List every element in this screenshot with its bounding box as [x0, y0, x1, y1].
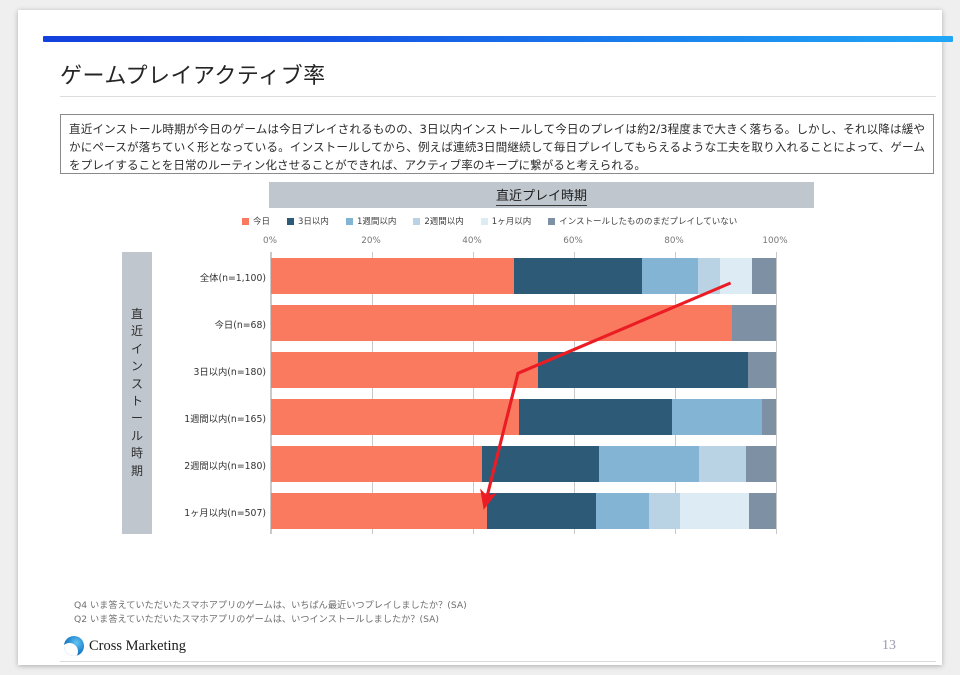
summary-text: 直近インストール時期が今日のゲームは今日プレイされるものの、3日以内インストール… — [69, 121, 925, 175]
bar-segment — [746, 446, 776, 482]
category-label: 3日以内(n=180) — [154, 364, 266, 378]
bar-segment — [271, 305, 732, 341]
bar-row — [271, 399, 776, 435]
page-title: ゲームプレイアクティブ率 — [60, 58, 760, 90]
legend-label-3: 2週間以内 — [424, 215, 463, 227]
bar-segment — [514, 258, 642, 294]
bar-row — [271, 352, 776, 388]
bar-segment — [698, 258, 721, 294]
footer-divider — [60, 661, 936, 662]
stacked-bar-chart: 直近プレイ時期 今日3日以内1週間以内2週間以内1ヶ月以内インストールしたものの… — [122, 182, 942, 572]
legend-swatch-3 — [413, 218, 420, 225]
bar-segment — [752, 258, 776, 294]
cross-marketing-swoosh-icon — [64, 636, 84, 656]
bar-segment — [271, 446, 482, 482]
page-number: 13 — [882, 638, 896, 654]
footnote-q4: Q4 いま答えていただいたスマホアプリのゲームは、いちばん最近いつプレイしました… — [74, 599, 674, 613]
bar-segment — [732, 305, 776, 341]
bar-segment — [649, 493, 680, 529]
bar-segment — [271, 352, 538, 388]
bar-segment — [271, 399, 519, 435]
category-label: 2週間以内(n=180) — [154, 458, 266, 472]
legend-title-banner: 直近プレイ時期 — [269, 182, 814, 208]
xtick-40: 40% — [462, 236, 482, 246]
legend-label-1: 3日以内 — [298, 215, 329, 227]
chart-legend: 今日3日以内1週間以内2週間以内1ヶ月以内インストールしたもののまだプレイしてい… — [242, 212, 942, 230]
top-accent-bar — [43, 36, 953, 42]
legend-swatch-4 — [481, 218, 488, 225]
legend-swatch-5 — [548, 218, 555, 225]
bar-series-container — [271, 252, 776, 534]
plot-wrapper: 直近インストール時期 全体(n=1,100)今日(n=68)3日以内(n=180… — [122, 252, 942, 534]
category-label: 1週間以内(n=165) — [154, 411, 266, 425]
legend-label-5: インストールしたもののまだプレイしていない — [559, 215, 737, 227]
slide-paper: ゲームプレイアクティブ率 直近インストール時期が今日のゲームは今日プレイされるも… — [18, 10, 942, 665]
footnote-q2: Q2 いま答えていただいたスマホアプリのゲームは、いつインストールしましたか？(… — [74, 613, 674, 627]
bar-segment — [271, 258, 514, 294]
bar-segment — [720, 258, 751, 294]
legend-swatch-1 — [287, 218, 294, 225]
legend-item-0: 今日 — [242, 215, 270, 227]
y-axis-category-labels: 全体(n=1,100)今日(n=68)3日以内(n=180)1週間以内(n=16… — [156, 252, 268, 534]
bar-segment — [672, 399, 762, 435]
legend-item-2: 1週間以内 — [346, 215, 396, 227]
gridline-100 — [776, 252, 777, 534]
title-divider — [60, 96, 936, 97]
legend-item-4: 1ヶ月以内 — [481, 215, 531, 227]
bar-segment — [538, 352, 748, 388]
legend-swatch-2 — [346, 218, 353, 225]
footnotes: Q4 いま答えていただいたスマホアプリのゲームは、いちばん最近いつプレイしました… — [74, 599, 674, 628]
legend-label-2: 1週間以内 — [357, 215, 396, 227]
xtick-80: 80% — [664, 236, 684, 246]
legend-label-0: 今日 — [253, 215, 270, 227]
bar-segment — [749, 493, 776, 529]
bar-segment — [271, 493, 487, 529]
brand-name: Cross Marketing — [89, 638, 186, 655]
legend-title-text: 直近プレイ時期 — [496, 185, 587, 206]
bar-segment — [762, 399, 776, 435]
bar-row — [271, 258, 776, 294]
legend-label-4: 1ヶ月以内 — [492, 215, 531, 227]
bar-segment — [642, 258, 698, 294]
xtick-20: 20% — [361, 236, 381, 246]
bar-row — [271, 305, 776, 341]
plot-area — [270, 252, 776, 534]
bar-segment — [519, 399, 672, 435]
xtick-60: 60% — [563, 236, 583, 246]
slide-canvas: ゲームプレイアクティブ率 直近インストール時期が今日のゲームは今日プレイされるも… — [0, 0, 960, 675]
xtick-100: 100% — [762, 236, 787, 246]
legend-item-3: 2週間以内 — [413, 215, 463, 227]
bar-segment — [680, 493, 749, 529]
bar-segment — [487, 493, 596, 529]
summary-textbox: 直近インストール時期が今日のゲームは今日プレイされるものの、3日以内インストール… — [60, 114, 934, 174]
brand-logo: Cross Marketing — [64, 636, 186, 656]
category-label: 1ヶ月以内(n=507) — [154, 505, 266, 519]
bar-segment — [599, 446, 699, 482]
category-label: 今日(n=68) — [154, 317, 266, 331]
bar-row — [271, 446, 776, 482]
bar-segment — [699, 446, 745, 482]
y-axis-title: 直近インストール時期 — [122, 252, 152, 534]
legend-swatch-0 — [242, 218, 249, 225]
bar-segment — [596, 493, 650, 529]
bar-segment — [748, 352, 776, 388]
x-axis-ticklabels: 0%20%40%60%80%100% — [270, 236, 775, 252]
y-axis-title-text: 直近インストール時期 — [131, 306, 143, 480]
bar-row — [271, 493, 776, 529]
category-label: 全体(n=1,100) — [154, 270, 266, 284]
legend-item-5: インストールしたもののまだプレイしていない — [548, 215, 737, 227]
xtick-0: 0% — [263, 236, 277, 246]
bar-segment — [482, 446, 600, 482]
legend-item-1: 3日以内 — [287, 215, 329, 227]
